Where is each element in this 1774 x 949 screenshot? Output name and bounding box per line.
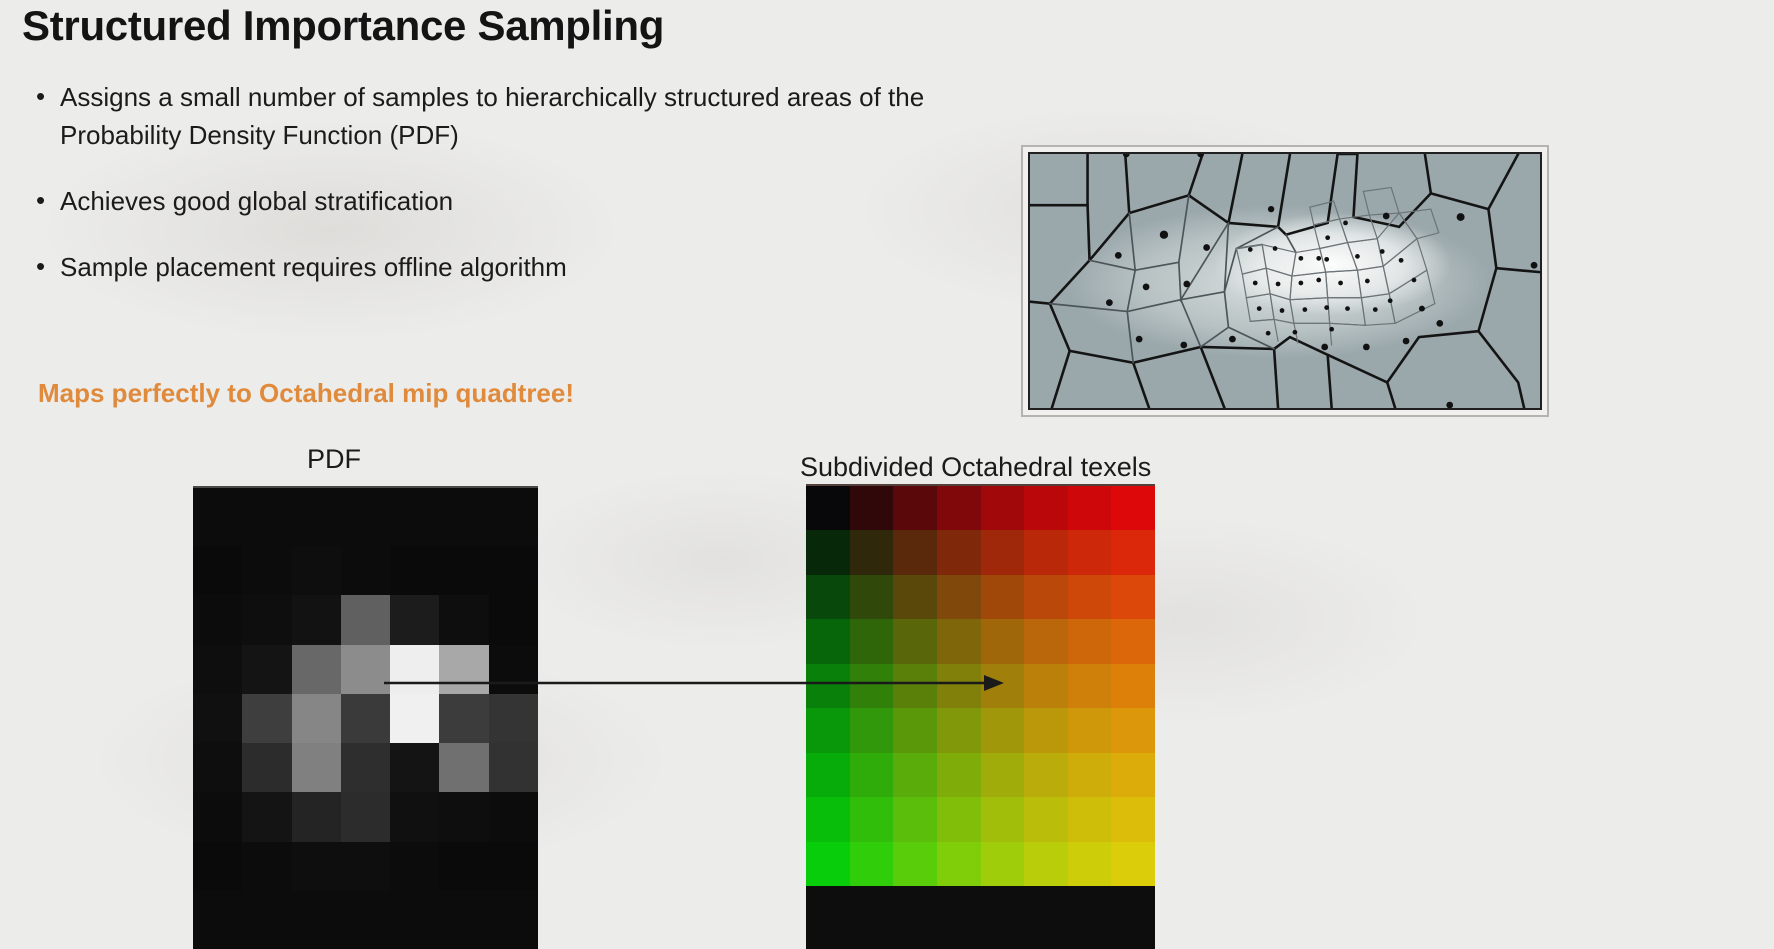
- pdf-texel: [489, 595, 538, 644]
- octahedral-texel: [981, 842, 1025, 886]
- pdf-texel: [242, 792, 291, 841]
- octahedral-heatmap-grid: [806, 486, 1155, 886]
- octahedral-texel: [1068, 619, 1112, 663]
- octahedral-texel: [893, 708, 937, 752]
- pdf-heatmap-grid: [193, 546, 538, 891]
- octahedral-texel: [937, 797, 981, 841]
- octahedral-texel: [1111, 797, 1155, 841]
- list-item: • Sample placement requires offline algo…: [30, 248, 1010, 286]
- octahedral-texel: [806, 619, 850, 663]
- octahedral-texel: [893, 530, 937, 574]
- octahedral-texel: [850, 753, 894, 797]
- pdf-texel: [489, 792, 538, 841]
- octahedral-texel: [806, 753, 850, 797]
- octahedral-texel: [981, 664, 1025, 708]
- octahedral-texel: [1068, 797, 1112, 841]
- octahedral-texel: [893, 842, 937, 886]
- pdf-texel: [341, 645, 390, 694]
- octahedral-texel: [1111, 530, 1155, 574]
- voronoi-figure: [1028, 152, 1542, 410]
- octahedral-texel: [1111, 486, 1155, 530]
- pdf-texel: [390, 595, 439, 644]
- octahedral-texel: [1068, 486, 1112, 530]
- pdf-texel: [439, 842, 488, 891]
- octahedral-figure-label: Subdivided Octahedral texels: [800, 452, 1151, 483]
- pdf-texel: [292, 842, 341, 891]
- octahedral-texel: [1068, 664, 1112, 708]
- pdf-texel: [439, 546, 488, 595]
- octahedral-texel: [937, 753, 981, 797]
- pdf-texel: [390, 842, 439, 891]
- octahedral-texel: [893, 575, 937, 619]
- octahedral-texel: [850, 664, 894, 708]
- octahedral-texel: [806, 664, 850, 708]
- pdf-heatmap-panel: [193, 486, 538, 949]
- octahedral-texel: [1068, 842, 1112, 886]
- bullet-marker-icon: •: [30, 248, 60, 284]
- octahedral-texel: [1024, 797, 1068, 841]
- octahedral-texel: [1024, 619, 1068, 663]
- pdf-texel: [292, 645, 341, 694]
- octahedral-texel: [1024, 530, 1068, 574]
- octahedral-texel: [1111, 708, 1155, 752]
- octahedral-texel: [981, 619, 1025, 663]
- octahedral-texel: [893, 486, 937, 530]
- pdf-texel: [341, 595, 390, 644]
- pdf-texel: [439, 595, 488, 644]
- octahedral-heatmap-panel: [806, 484, 1155, 949]
- voronoi-figure-frame: [1021, 145, 1549, 417]
- bullet-list: • Assigns a small number of samples to h…: [30, 78, 1010, 314]
- bullet-text: Assigns a small number of samples to hie…: [60, 78, 960, 154]
- octahedral-texel: [893, 797, 937, 841]
- octahedral-texel: [806, 842, 850, 886]
- pdf-texel: [193, 842, 242, 891]
- pdf-texel: [193, 694, 242, 743]
- pdf-texel: [489, 546, 538, 595]
- octahedral-texel: [937, 530, 981, 574]
- octahedral-texel: [893, 619, 937, 663]
- pdf-texel: [439, 645, 488, 694]
- octahedral-texel: [1111, 753, 1155, 797]
- octahedral-texel: [1111, 842, 1155, 886]
- pdf-texel: [489, 694, 538, 743]
- octahedral-texel: [937, 575, 981, 619]
- octahedral-texel: [981, 708, 1025, 752]
- octahedral-texel: [806, 486, 850, 530]
- octahedral-texel: [981, 797, 1025, 841]
- pdf-texel: [390, 645, 439, 694]
- pdf-texel: [439, 694, 488, 743]
- page-title: Structured Importance Sampling: [22, 2, 664, 50]
- octahedral-texel: [893, 664, 937, 708]
- octahedral-texel: [1024, 575, 1068, 619]
- octahedral-texel: [1111, 575, 1155, 619]
- list-item: • Achieves good global stratification: [30, 182, 1010, 220]
- pdf-texel: [193, 645, 242, 694]
- octahedral-texel: [850, 486, 894, 530]
- pdf-texel: [341, 743, 390, 792]
- pdf-texel: [242, 743, 291, 792]
- octahedral-texel: [1068, 753, 1112, 797]
- pdf-texel: [390, 546, 439, 595]
- octahedral-texel: [850, 797, 894, 841]
- octahedral-texel: [850, 619, 894, 663]
- pdf-texel: [242, 694, 291, 743]
- pdf-figure-label: PDF: [307, 444, 361, 475]
- pdf-texel: [341, 694, 390, 743]
- pdf-texel: [489, 842, 538, 891]
- list-item: • Assigns a small number of samples to h…: [30, 78, 1010, 154]
- octahedral-texel: [806, 530, 850, 574]
- octahedral-texel: [937, 664, 981, 708]
- pdf-texel: [390, 694, 439, 743]
- pdf-texel: [489, 743, 538, 792]
- octahedral-texel: [850, 842, 894, 886]
- pdf-texel: [489, 645, 538, 694]
- pdf-texel: [242, 546, 291, 595]
- octahedral-texel: [850, 575, 894, 619]
- voronoi-diagram: [1030, 154, 1540, 408]
- octahedral-texel: [850, 708, 894, 752]
- octahedral-texel: [806, 797, 850, 841]
- bullet-text: Sample placement requires offline algori…: [60, 248, 567, 286]
- pdf-texel: [193, 546, 242, 595]
- octahedral-texel: [981, 753, 1025, 797]
- pdf-texel: [341, 792, 390, 841]
- bullet-marker-icon: •: [30, 78, 60, 114]
- pdf-texel: [390, 792, 439, 841]
- octahedral-texel: [937, 619, 981, 663]
- pdf-texel: [242, 842, 291, 891]
- pdf-texel: [193, 595, 242, 644]
- octahedral-texel: [806, 575, 850, 619]
- octahedral-texel: [1024, 708, 1068, 752]
- pdf-texel: [292, 792, 341, 841]
- pdf-texel: [292, 743, 341, 792]
- octahedral-texel: [937, 842, 981, 886]
- pdf-texel: [242, 645, 291, 694]
- octahedral-texel: [1068, 708, 1112, 752]
- pdf-texel: [439, 792, 488, 841]
- octahedral-texel: [1068, 530, 1112, 574]
- octahedral-texel: [981, 530, 1025, 574]
- octahedral-texel: [893, 753, 937, 797]
- octahedral-texel: [1024, 486, 1068, 530]
- octahedral-texel: [1111, 664, 1155, 708]
- pdf-texel: [341, 546, 390, 595]
- highlight-text: Maps perfectly to Octahedral mip quadtre…: [38, 378, 574, 409]
- pdf-texel: [242, 595, 291, 644]
- pdf-texel: [439, 743, 488, 792]
- octahedral-texel: [937, 708, 981, 752]
- pdf-texel: [292, 694, 341, 743]
- pdf-texel: [292, 546, 341, 595]
- octahedral-texel: [850, 530, 894, 574]
- octahedral-texel: [1068, 575, 1112, 619]
- octahedral-texel: [937, 486, 981, 530]
- bullet-text: Achieves good global stratification: [60, 182, 453, 220]
- pdf-texel: [292, 595, 341, 644]
- bullet-marker-icon: •: [30, 182, 60, 218]
- octahedral-texel: [1024, 753, 1068, 797]
- pdf-texel: [390, 743, 439, 792]
- octahedral-texel: [1111, 619, 1155, 663]
- octahedral-texel: [981, 575, 1025, 619]
- octahedral-texel: [1024, 842, 1068, 886]
- octahedral-texel: [981, 486, 1025, 530]
- octahedral-texel: [1024, 664, 1068, 708]
- pdf-texel: [193, 792, 242, 841]
- octahedral-texel: [806, 708, 850, 752]
- pdf-texel: [341, 842, 390, 891]
- pdf-texel: [193, 743, 242, 792]
- slide-canvas: Structured Importance Sampling • Assigns…: [0, 0, 1774, 949]
